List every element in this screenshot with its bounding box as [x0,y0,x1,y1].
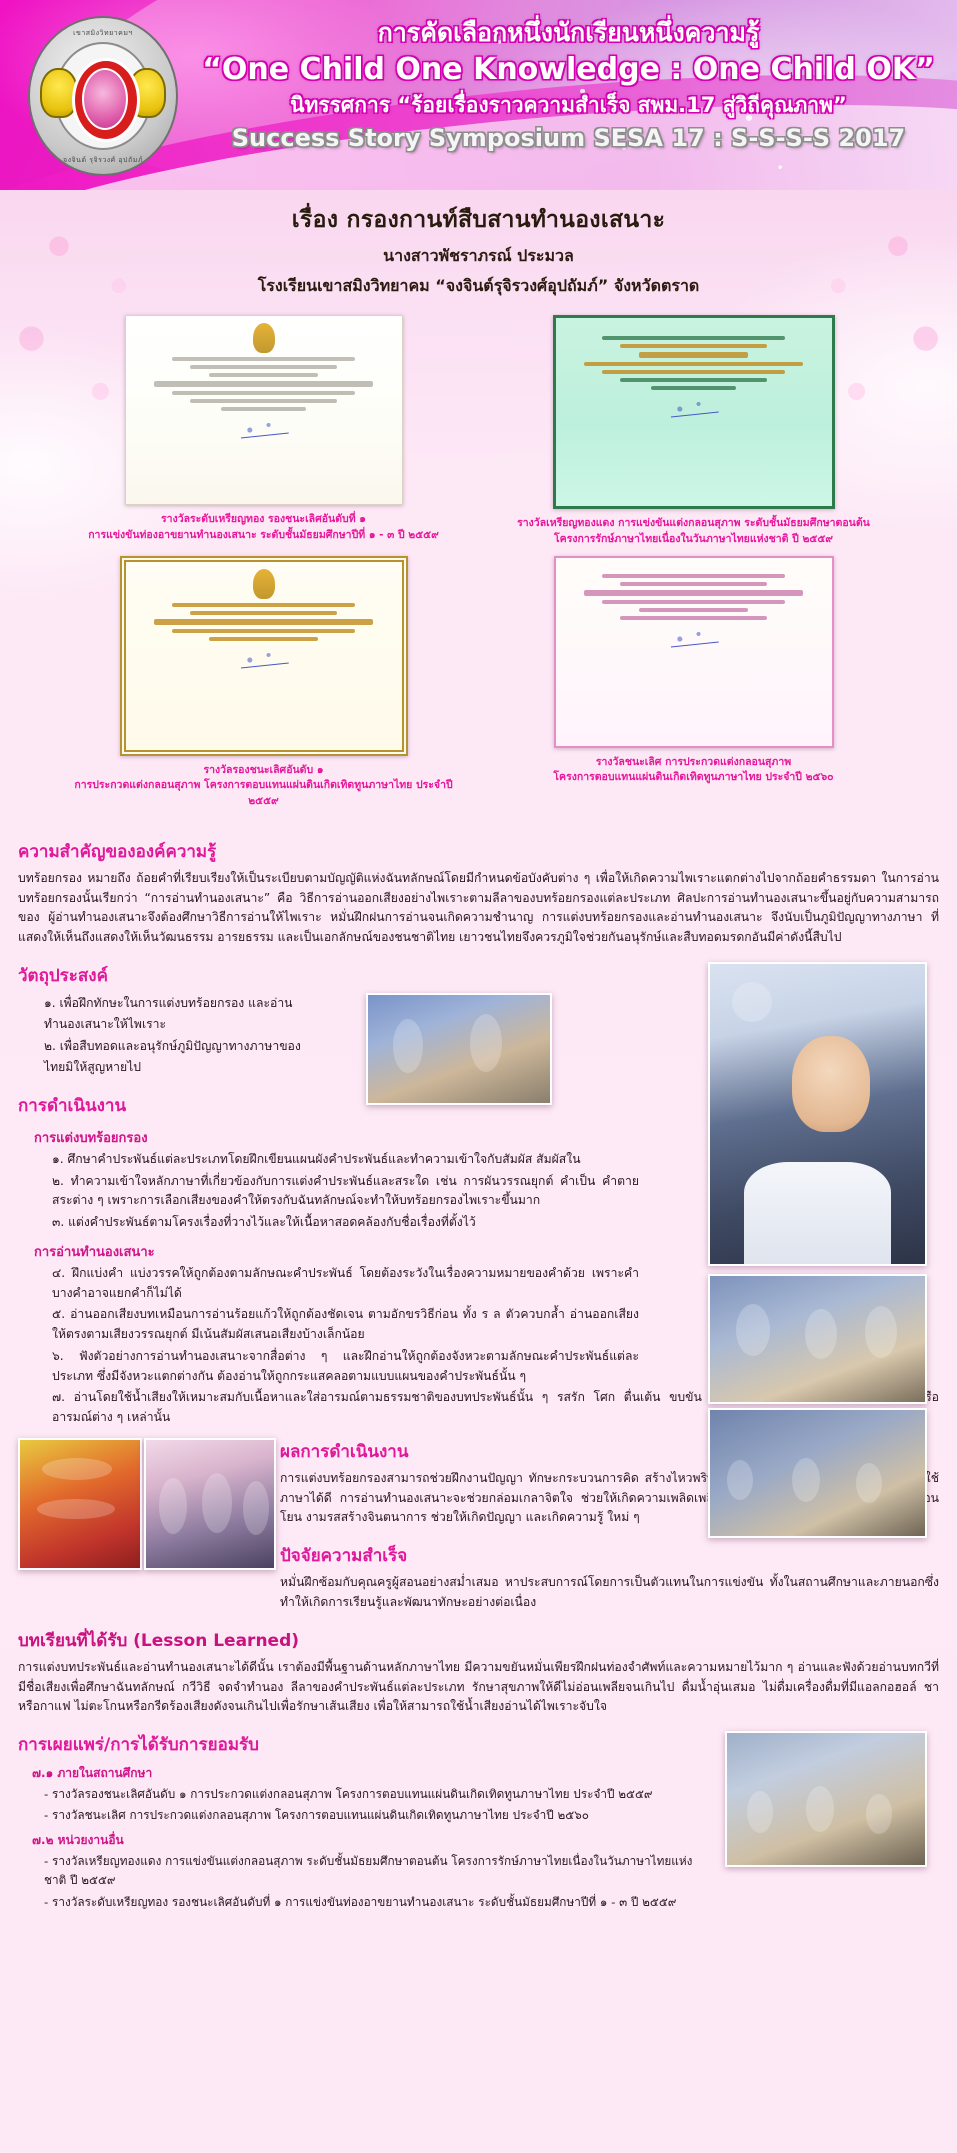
operation-step: ๔. ฝึกแบ่งคำ แบ่งวรรคให้ถูกต้องตามลักษณะ… [52,1264,639,1304]
gem-icon [82,68,128,130]
header-title-line4: Success Story Symposium SESA 17 : S-S-S-… [200,124,937,153]
photo-highlight [856,1463,882,1503]
lesson-learned-paragraph: การแต่งบทประพันธ์และอ่านทำนองเสนาะได้ดีน… [18,1658,939,1717]
certificate-row-2: รางวัลรองชนะเลิศอันดับ ๑ การประกวดแต่งกล… [69,556,889,810]
certificate-image-winner [554,556,834,748]
recognition-item: - รางวัลรองชนะเลิศอันดับ ๑ การประกวดแต่ง… [44,1785,709,1804]
photo-highlight [792,1458,820,1502]
certificate-caption: รางวัลระดับเหรียญทอง รองชนะเลิศอันดับที่… [69,512,459,544]
caption-line-2: โครงการรักษ์ภาษาไทยเนื่องในวันภาษาไทยแห่… [499,532,889,548]
photo-exhibition-banner [18,1438,142,1570]
recognition-item: - รางวัลระดับเหรียญทอง รองชนะเลิศอันดับท… [44,1893,709,1912]
certificate-gallery: รางวัลระดับเหรียญทอง รองชนะเลิศอันดับที่… [69,315,889,810]
caption-line-1: รางวัลระดับเหรียญทอง รองชนะเลิศอันดับที่… [69,512,459,528]
portrait-uniform [744,1162,890,1264]
photo-assembly-hall [708,1408,927,1538]
cert-line [584,590,804,596]
operation-step: ๑. ศึกษาคำประพันธ์แต่ละประเภทโดยฝึกเขียน… [52,1150,639,1170]
objective-item: ๒. เพื่อสืบทอดและอนุรักษ์ภูมิปัญญาทางภาษ… [44,1036,319,1077]
recognition-block: การเผยแพร่/การได้รับการยอมรับ ๗.๑ ภายในส… [18,1731,939,1912]
cert-line [172,629,355,633]
certificate-caption: รางวัลเหรียญทองแดง การแข่งขันแต่งกลอนสุภ… [499,516,889,548]
cert-line [172,603,355,607]
certificate-item: รางวัลระดับเหรียญทอง รองชนะเลิศอันดับที่… [69,315,459,548]
poster-body: เรื่อง กรองกานท์สืบสานทำนองเสนาะ นางสาวพ… [0,190,957,2153]
header-title-line1: การคัดเลือกหนึ่งนักเรียนหนึ่งความรู้ [200,18,937,49]
header-title-line2: “One Child One Knowledge : One Child OK” [200,52,937,89]
cert-line [639,352,749,358]
photo-highlight [42,1458,112,1480]
certificate-item: รางวัลชนะเลิศ การประกวดแต่งกลอนสุภาพ โคร… [499,556,889,810]
certificate-text-lines [556,318,832,390]
signature-mark [239,417,289,439]
success-factors-paragraph: หมั่นฝึกซ้อมกับคุณครูผู้สอนอย่างสม่ำเสมอ… [280,1573,939,1613]
photo-highlight [159,1478,187,1534]
caption-line-2: การแข่งขันท่องอาขยานทำนองเสนาะ ระดับชั้น… [69,528,459,544]
poster-header: เขาสมิงวิทยาคมฯ จงจินต์ รุจิรวงศ์ อุปถัม… [0,0,957,190]
photo-highlight [806,1786,834,1832]
certificate-image-runner-up [120,556,408,756]
title-block: เรื่อง กรองกานท์สืบสานทำนองเสนาะ นางสาวพ… [0,190,957,299]
photo-highlight [202,1473,232,1533]
emblem-bottom-text: จงจินต์ รุจิรวงศ์ อุปถัมภ์ [28,155,178,166]
photo-highlight [866,1794,892,1834]
photo-dance-performance [144,1438,276,1570]
cert-line [172,391,355,395]
signature-mark [669,625,719,647]
cert-line [172,357,355,361]
cert-line [190,399,336,403]
cert-line [620,344,766,348]
cert-line [651,386,736,390]
cert-line [602,574,785,578]
photo-highlight [470,1014,502,1072]
certificate-text-lines [556,558,832,620]
objectives-operation-block: วัตถุประสงค์ ๑. เพื่อฝึกทักษะในการแต่งบท… [18,962,939,1428]
cert-line [602,600,785,604]
cert-line [221,407,306,411]
poster-content: ความสำคัญขององค์ความรู้ บทร้อยกรอง หมายถ… [0,818,957,1938]
garuda-crest-icon [253,569,275,599]
emblem-top-text: เขาสมิงวิทยาคมฯ [28,28,178,39]
cert-line [620,582,766,586]
header-title-group: การคัดเลือกหนึ่งนักเรียนหนึ่งความรู้ “On… [200,18,937,153]
page-title: เรื่อง กรองกานท์สืบสานทำนองเสนาะ [0,202,957,238]
certificate-item: รางวัลเหรียญทองแดง การแข่งขันแต่งกลอนสุภ… [499,315,889,548]
section-heading-success-factors: ปัจจัยความสำเร็จ [280,1542,939,1569]
caption-line-1: รางวัลชนะเลิศ การประกวดแต่งกลอนสุภาพ [499,755,889,771]
certificate-item: รางวัลรองชนะเลิศอันดับ ๑ การประกวดแต่งกล… [69,556,459,810]
objective-item: ๑. เพื่อฝึกทักษะในการแต่งบทร้อยกรอง และอ… [44,993,319,1034]
caption-line-1: รางวัลรองชนะเลิศอันดับ ๑ [69,763,459,779]
photo-group-students [708,1274,927,1404]
signature-mark [669,396,719,418]
photo-highlight [865,1306,897,1358]
poster-root: เขาสมิงวิทยาคมฯ จงจินต์ รุจิรวงศ์ อุปถัม… [0,0,957,2153]
photo-highlight [727,1460,753,1500]
cert-line [620,616,766,620]
recognition-item: - รางวัลเหรียญทองแดง การแข่งขันแต่งกลอนส… [44,1852,709,1890]
cert-line [602,336,785,340]
cert-line [620,378,766,382]
photo-student-portrait [708,962,927,1266]
caption-line-2: โครงการตอบแทนแผ่นดินเกิดเทิดทูนภาษาไทย ป… [499,770,889,786]
cert-line [190,365,336,369]
caption-line-1: รางวัลเหรียญทองแดง การแข่งขันแต่งกลอนสุภ… [499,516,889,532]
cert-line [209,373,319,377]
section-heading-importance: ความสำคัญขององค์ความรู้ [18,838,939,865]
cert-line [639,608,749,612]
photo-highlight [747,1791,773,1833]
operation-step: ๕. อ่านออกเสียงบทเหมือนการอ่านร้อยแก้วให… [52,1305,639,1345]
photo-highlight [732,982,772,1022]
certificate-image-bronze [553,315,835,509]
operation-step: ๒. ทำความเข้าใจหลักภาษาที่เกี่ยวข้องกับก… [52,1172,639,1212]
recognition-item: - รางวัลชนะเลิศ การประกวดแต่งกลอนสุภาพ โ… [44,1806,709,1825]
cert-line [209,637,319,641]
school-name: โรงเรียนเขาสมิงวิทยาคม “จงจินต์รุจิรวงศ์… [0,274,957,299]
certificate-row-1: รางวัลระดับเหรียญทอง รองชนะเลิศอันดับที่… [69,315,889,548]
certificate-text-lines [126,603,402,641]
signature-mark [239,646,289,668]
caption-line-2: การประกวดแต่งกลอนสุภาพ โครงการตอบแทนแผ่น… [69,778,459,810]
certificate-caption: รางวัลชนะเลิศ การประกวดแต่งกลอนสุภาพ โคร… [499,755,889,787]
photo-highlight [393,1019,423,1073]
certificate-image-gold [125,315,403,505]
photo-highlight [805,1309,837,1359]
school-emblem: เขาสมิงวิทยาคมฯ จงจินต์ รุจิรวงศ์ อุปถัม… [28,16,178,176]
certificate-caption: รางวัลรองชนะเลิศอันดับ ๑ การประกวดแต่งกล… [69,763,459,810]
importance-paragraph: บทร้อยกรอง หมายถึง ถ้อยคำที่เรียบเรียงให… [18,869,939,948]
photo-highlight [243,1481,269,1535]
operation-step: ๓. แต่งคำประพันธ์ตามโครงเรื่องที่วางไว้แ… [52,1213,639,1233]
cert-line [602,370,785,374]
presenter-name: นางสาวพัชราภรณ์ ประมวล [0,244,957,269]
cert-line [584,362,804,366]
cert-line [154,619,374,625]
photo-highlight [37,1499,115,1519]
header-title-line3: นิทรรศการ “ร้อยเรื่องราวความสำเร็จ สพม.1… [200,93,937,119]
photo-classroom-activity [725,1731,927,1867]
garuda-crest-icon [253,323,275,353]
cert-line [154,381,374,387]
cert-line [190,611,336,615]
section-heading-lesson-learned: บทเรียนที่ได้รับ (Lesson Learned) [18,1627,939,1654]
operation-step: ๖. ฟังตัวอย่างการอ่านทำนองเสนาะจากสื่อต่… [52,1347,639,1387]
certificate-text-lines [126,357,402,411]
photo-award-ceremony [366,993,552,1105]
photo-highlight [736,1304,770,1356]
portrait-face [792,1036,870,1132]
